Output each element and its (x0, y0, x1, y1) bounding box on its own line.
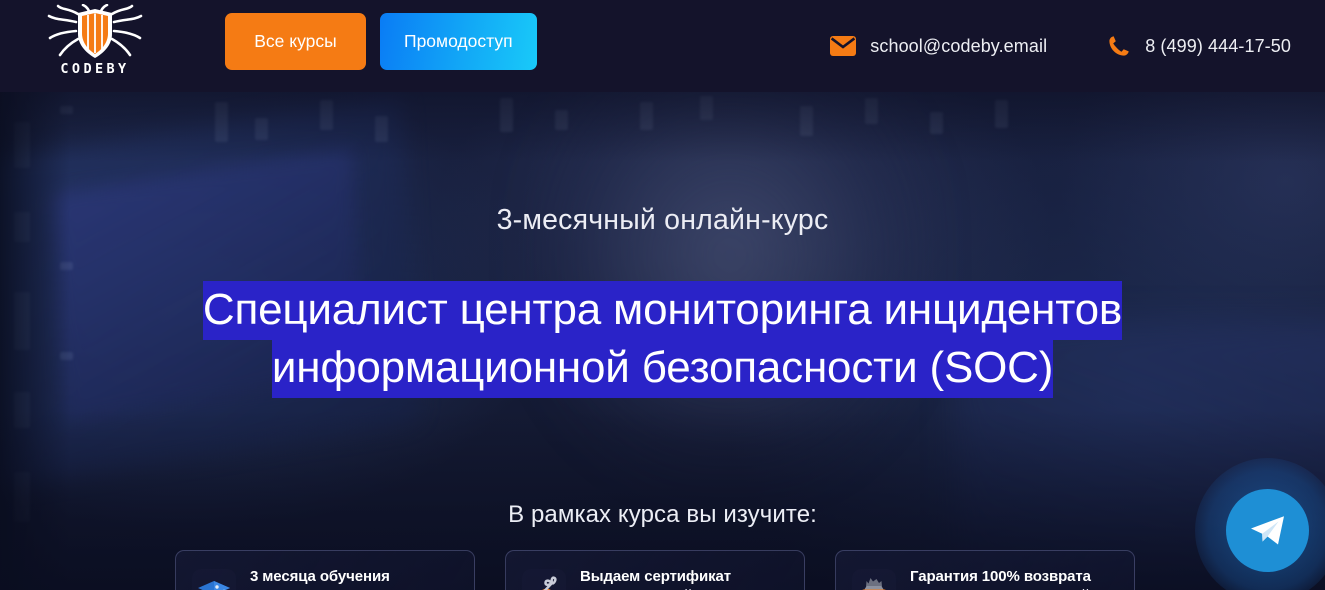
graduation-cap-icon-box (192, 569, 236, 590)
feature-card-refund-title: Гарантия 100% возврата (910, 567, 1122, 586)
phone-contact[interactable]: 8 (499) 444-17-50 (1107, 34, 1291, 58)
hero-section: 3-месячный онлайн-курс Специалист центра… (0, 92, 1325, 590)
envelope-icon (830, 36, 856, 56)
feature-card-duration: 3 месяца обучения с видеоуроками и задан… (175, 550, 475, 590)
feature-card-duration-desc: с видеоуроками и заданиями (250, 586, 462, 590)
graduation-cap-icon (197, 576, 231, 590)
feature-card-duration-text: 3 месяца обучения с видеоуроками и задан… (250, 565, 462, 590)
header-contacts: school@codeby.email 8 (499) 444-17-50 (830, 0, 1291, 92)
feature-card-refund-text: Гарантия 100% возврата средств в первые … (910, 565, 1122, 590)
logo-wordmark: CODEBY (44, 62, 146, 76)
hero-kicker: 3-месячный онлайн-курс (0, 204, 1325, 237)
phone-text: 8 (499) 444-17-50 (1145, 36, 1291, 57)
page-title-line-2: информационной безопасности (SOC) (272, 339, 1053, 398)
page-title-line-1: Специалист центра мониторинга инцидентов (203, 281, 1122, 340)
hero-content: 3-месячный онлайн-курс Специалист центра… (0, 92, 1325, 590)
landing-page: CODEBY Все курсы Промодоступ school@code… (0, 0, 1325, 590)
site-header: CODEBY Все курсы Промодоступ school@code… (0, 0, 1325, 92)
all-courses-button[interactable]: Все курсы (225, 13, 366, 70)
feature-card-duration-title: 3 месяца обучения (250, 567, 462, 586)
email-text: school@codeby.email (870, 36, 1047, 57)
feature-card-refund-desc: средств в первые 14 дней, если курс не п… (910, 586, 1122, 590)
logo[interactable]: CODEBY (44, 4, 146, 86)
email-contact[interactable]: school@codeby.email (830, 36, 1047, 57)
money-bag-icon-box: $ (852, 569, 896, 590)
hero-subtitle: В рамках курса вы изучите: (0, 501, 1325, 529)
feature-card-certificate: Выдаем сертификат после успешной сдачи э… (505, 550, 805, 590)
feature-card-refund: $ Гарантия 100% возврата средств в первы… (835, 550, 1135, 590)
feature-card-certificate-text: Выдаем сертификат после успешной сдачи э… (580, 565, 792, 590)
certificate-icon-box (522, 569, 566, 590)
spider-shield-logo-icon (44, 4, 146, 62)
certificate-scroll-icon (527, 575, 561, 590)
feature-cards: 3 месяца обучения с видеоуроками и задан… (175, 550, 1135, 590)
telegram-paper-plane-icon (1248, 513, 1288, 549)
promo-access-button[interactable]: Промодоступ (380, 13, 537, 70)
header-nav-buttons: Все курсы Промодоступ (225, 13, 537, 70)
feature-card-certificate-desc: после успешной сдачи экзамена (580, 586, 792, 590)
telegram-floating-button[interactable] (1226, 489, 1309, 572)
money-bag-icon: $ (857, 576, 891, 590)
feature-card-certificate-title: Выдаем сертификат (580, 567, 792, 586)
phone-icon (1107, 34, 1131, 58)
page-title: Специалист центра мониторинга инцидентов… (0, 281, 1325, 397)
